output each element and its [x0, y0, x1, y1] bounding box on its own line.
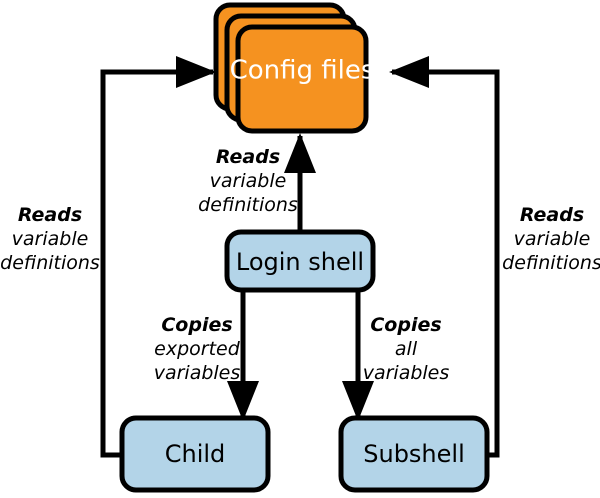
edge-subshell-to-config-files	[392, 72, 497, 455]
edge-label-line-3: variables	[154, 362, 241, 384]
edge-label-line-2: exported	[154, 338, 241, 360]
edge-label-line-emphasis: Reads	[520, 204, 584, 226]
edge-label-line-3: variables	[363, 362, 450, 384]
node-child[interactable]: Child	[122, 418, 268, 490]
login-shell-label: Login shell	[236, 248, 364, 276]
edge-label-child-to-config-files: Reads variable definitions	[0, 204, 100, 274]
edge-label-login-shell-to-child: Copies exported variables	[154, 314, 241, 384]
edge-label-line-emphasis: Copies	[161, 314, 232, 336]
node-subshell[interactable]: Subshell	[341, 418, 487, 490]
edge-label-line-2: variable	[514, 228, 591, 250]
edge-label-line-emphasis: Reads	[216, 146, 280, 168]
edge-label-subshell-to-config-files: Reads variable definitions	[502, 204, 600, 274]
edge-label-line-emphasis: Copies	[370, 314, 441, 336]
edge-label-line-3: definitions	[0, 252, 100, 274]
edge-label-line-2: all	[395, 338, 418, 360]
edge-label-login-shell-to-config-files: Reads variable definitions	[198, 146, 298, 216]
child-label: Child	[165, 440, 226, 468]
edge-label-login-shell-to-subshell: Copies all variables	[363, 314, 450, 384]
edge-child-to-config-files	[103, 72, 213, 455]
edge-label-line-emphasis: Reads	[18, 204, 82, 226]
config-files-label: Config files	[230, 56, 375, 86]
node-login-shell[interactable]: Login shell	[227, 232, 373, 290]
edge-label-line-2: variable	[210, 170, 287, 192]
node-config-files[interactable]: Config files	[216, 5, 374, 131]
edge-label-line-3: definitions	[502, 252, 600, 274]
edge-label-line-3: definitions	[198, 194, 298, 216]
subshell-label: Subshell	[363, 440, 465, 468]
edge-label-line-2: variable	[12, 228, 89, 250]
diagram-canvas: Config files Login shell Child Subshell …	[0, 0, 600, 498]
shell-variable-flow-diagram: Config files Login shell Child Subshell …	[0, 0, 600, 498]
